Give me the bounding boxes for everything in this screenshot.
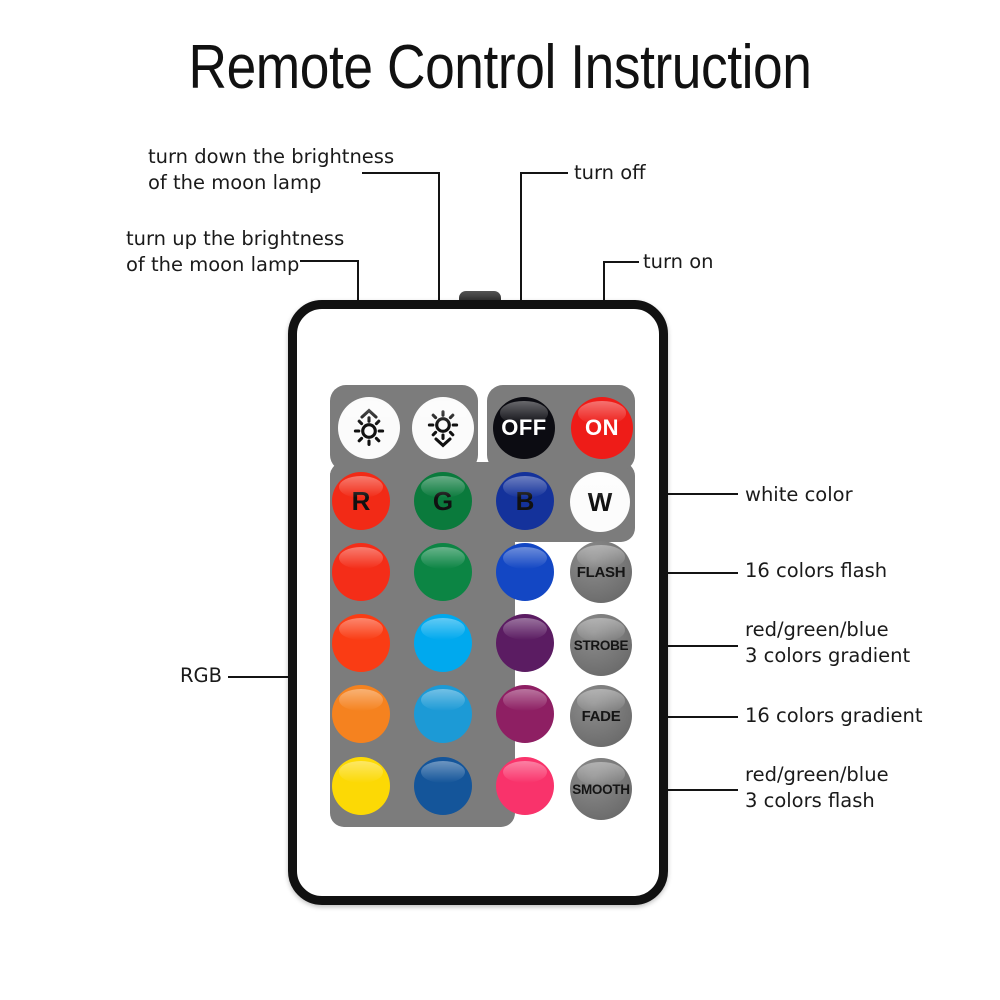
callout-turn-up-brightness: turn up the brightness of the moon lamp bbox=[126, 226, 344, 279]
smooth-button[interactable]: SMOOTH bbox=[570, 758, 632, 820]
power-on-button[interactable]: ON bbox=[571, 397, 633, 459]
page-title: Remote Control Instruction bbox=[70, 32, 930, 103]
color-button-r2c2[interactable] bbox=[414, 543, 472, 601]
leader-turn-off-h bbox=[520, 172, 568, 174]
callout-smooth: red/green/blue 3 colors flash bbox=[745, 762, 889, 815]
color-button-r4c3[interactable] bbox=[496, 685, 554, 743]
instruction-diagram: Remote Control Instruction turn down the… bbox=[0, 0, 1000, 1000]
callout-white-color: white color bbox=[745, 482, 853, 508]
color-button-green[interactable]: G bbox=[414, 472, 472, 530]
brightness-up-button[interactable] bbox=[338, 397, 400, 459]
leader-turn-up-h bbox=[300, 260, 359, 262]
sun-up-icon bbox=[349, 408, 389, 448]
flash-button[interactable]: FLASH bbox=[570, 541, 632, 603]
color-button-r3c2[interactable] bbox=[414, 614, 472, 672]
color-button-r4c1[interactable] bbox=[332, 685, 390, 743]
callout-turn-off: turn off bbox=[574, 160, 646, 186]
power-off-button[interactable]: OFF bbox=[493, 397, 555, 459]
white-color-button[interactable]: W bbox=[570, 472, 630, 532]
color-button-r2c1[interactable] bbox=[332, 543, 390, 601]
color-button-r5c1[interactable] bbox=[332, 757, 390, 815]
callout-fade: 16 colors gradient bbox=[745, 703, 923, 729]
strobe-button[interactable]: STROBE bbox=[570, 614, 632, 676]
callout-turn-down-brightness: turn down the brightness of the moon lam… bbox=[148, 144, 394, 197]
color-button-r3c3[interactable] bbox=[496, 614, 554, 672]
color-button-r5c3[interactable] bbox=[496, 757, 554, 815]
color-button-r4c2[interactable] bbox=[414, 685, 472, 743]
color-button-r2c3[interactable] bbox=[496, 543, 554, 601]
leader-turn-on-h bbox=[603, 261, 639, 263]
fade-button[interactable]: FADE bbox=[570, 685, 632, 747]
color-button-r5c2[interactable] bbox=[414, 757, 472, 815]
sun-down-icon bbox=[423, 408, 463, 448]
color-button-red[interactable]: R bbox=[332, 472, 390, 530]
callout-turn-on: turn on bbox=[643, 249, 714, 275]
callout-rgb: RGB bbox=[180, 664, 222, 687]
leader-turn-down-h bbox=[362, 172, 440, 174]
callout-strobe: red/green/blue 3 colors gradient bbox=[745, 617, 910, 670]
callout-flash: 16 colors flash bbox=[745, 558, 887, 584]
color-button-blue[interactable]: B bbox=[496, 472, 554, 530]
color-button-r3c1[interactable] bbox=[332, 614, 390, 672]
brightness-down-button[interactable] bbox=[412, 397, 474, 459]
